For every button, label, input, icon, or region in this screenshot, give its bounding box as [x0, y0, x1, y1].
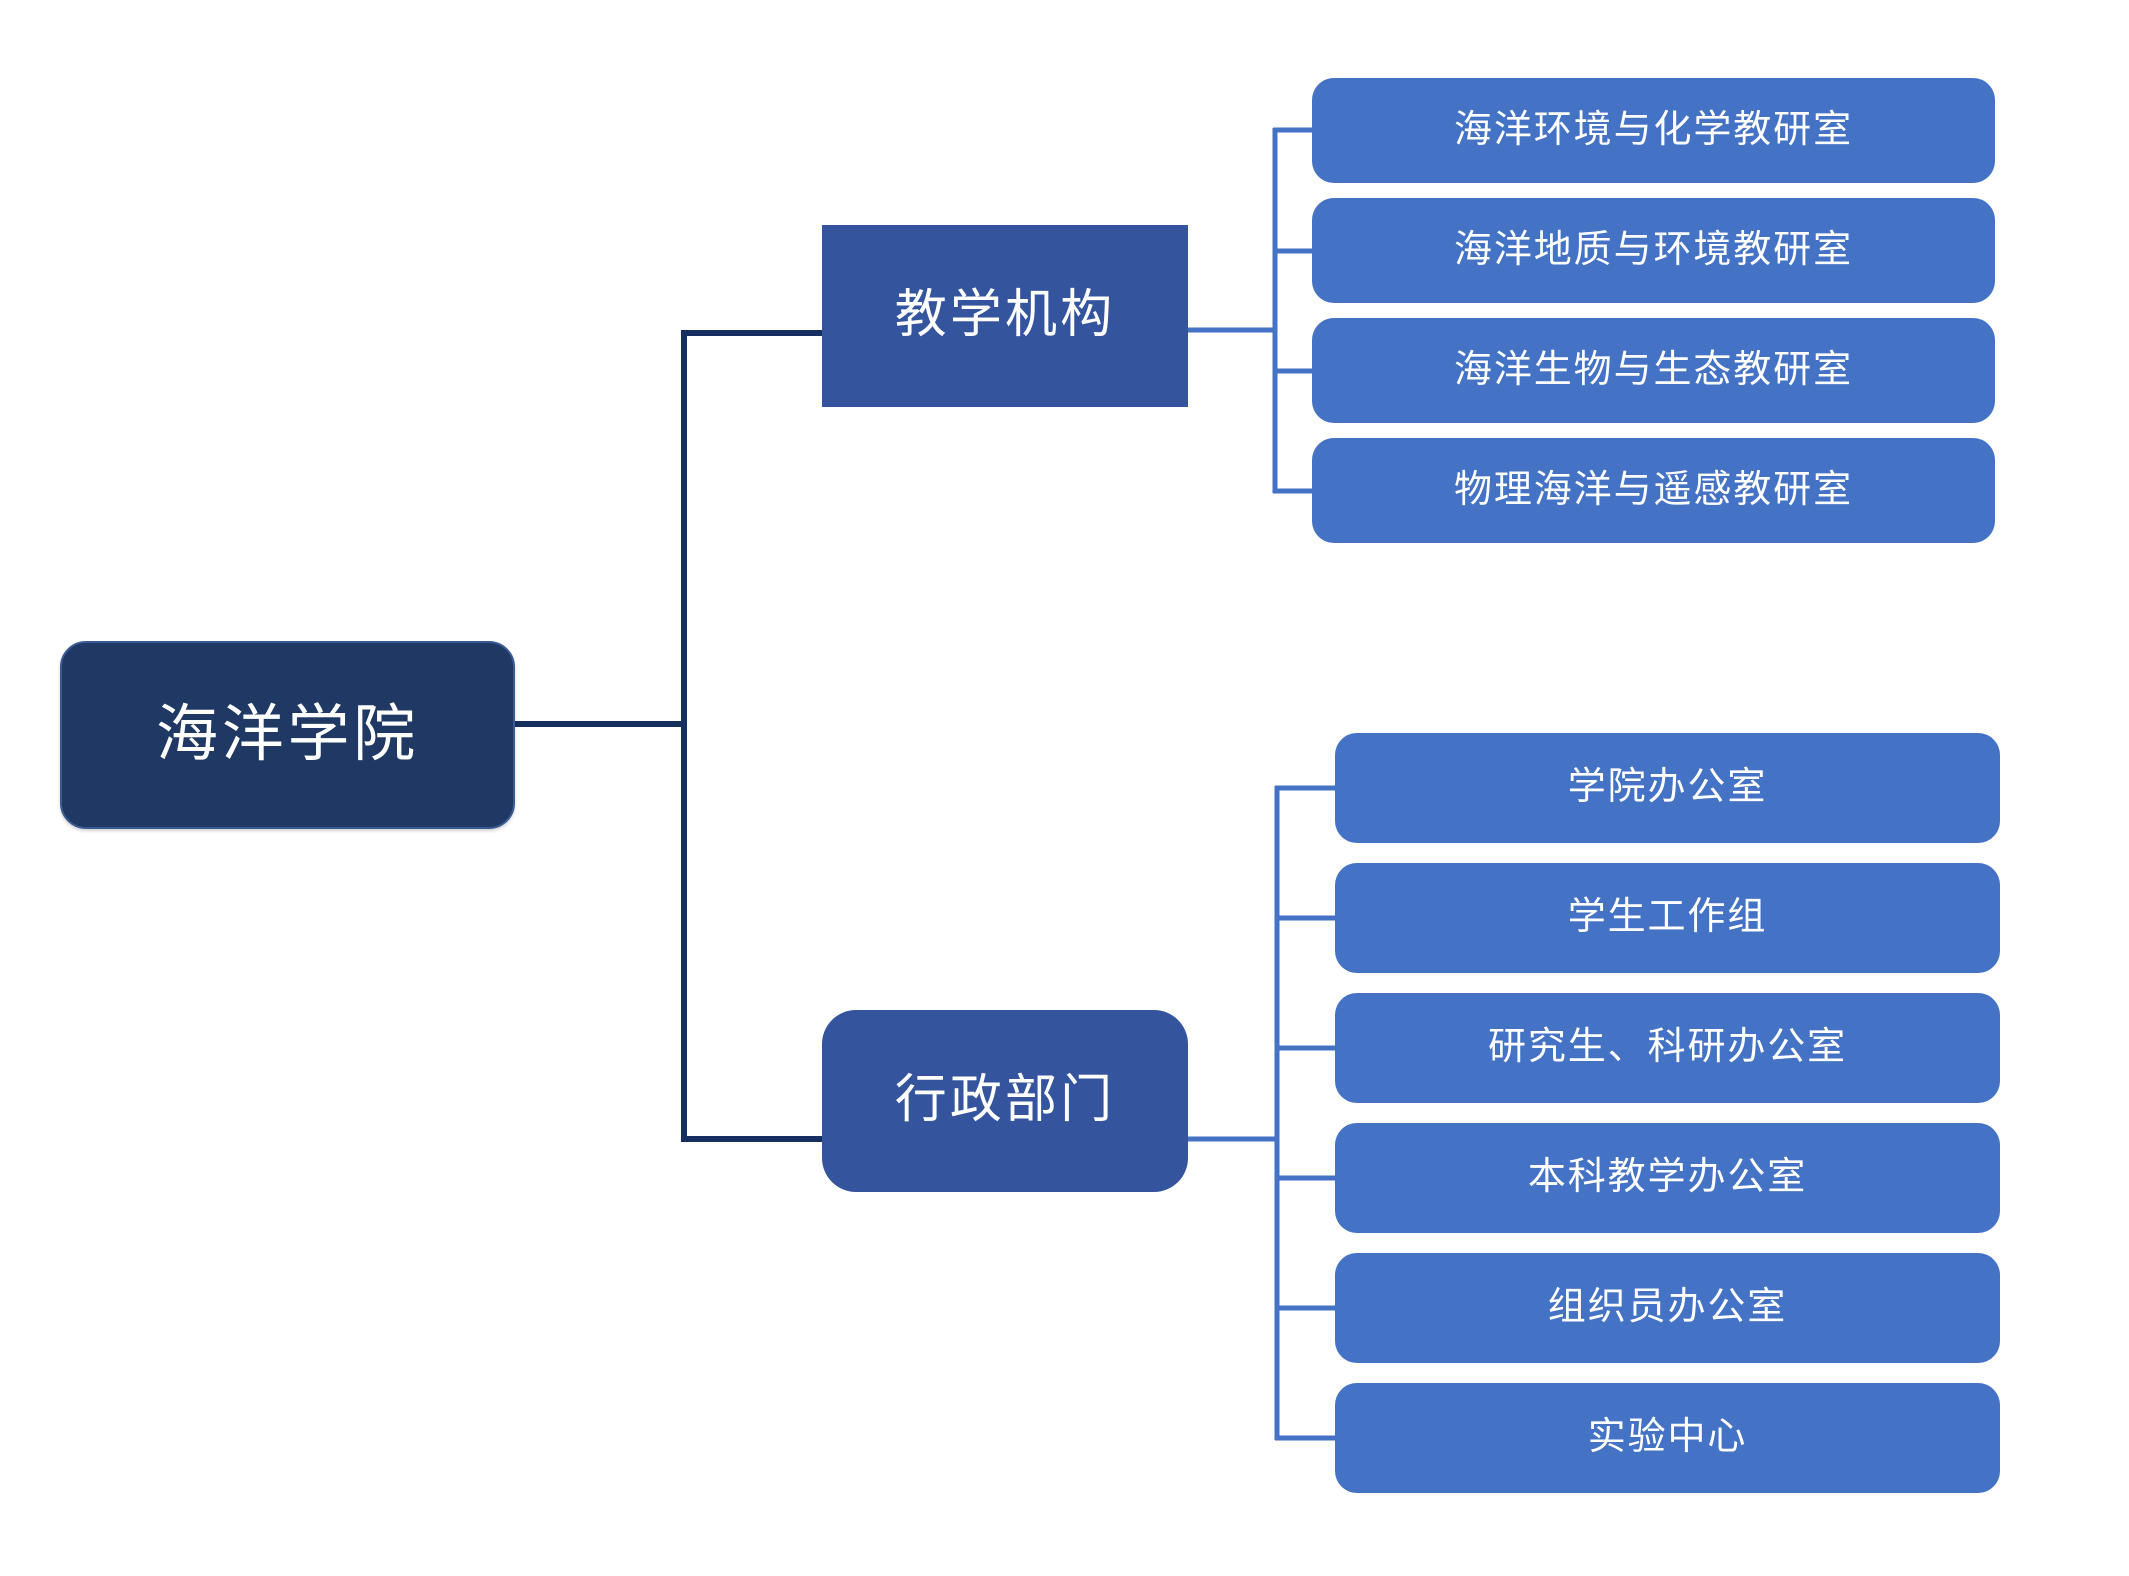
node-leaf-physical-oceanography-remote-sensing[interactable]: 物理海洋与遥感教研室 [1312, 438, 1995, 543]
node-leaf-marine-biology-ecology[interactable]: 海洋生物与生态教研室 [1312, 318, 1995, 423]
node-leaf-marine-environment-chemistry[interactable]: 海洋环境与化学教研室 [1312, 78, 1995, 183]
teaching-connectors [1188, 128, 1314, 493]
org-chart-canvas: 海洋学院 教学机构 行政部门 海洋环境与化学教研室 海洋地质与环境教研室 海洋生… [0, 0, 2129, 1576]
node-leaf-undergraduate-teaching-office[interactable]: 本科教学办公室 [1335, 1123, 2000, 1233]
node-branch-administrative-departments[interactable]: 行政部门 [822, 1010, 1188, 1192]
node-leaf-organizer-office[interactable]: 组织员办公室 [1335, 1253, 2000, 1363]
node-leaf-experiment-center[interactable]: 实验中心 [1335, 1383, 2000, 1493]
node-branch-teaching-institutions[interactable]: 教学机构 [822, 225, 1188, 407]
trunk-connectors [515, 330, 830, 1142]
node-leaf-graduate-research-office[interactable]: 研究生、科研办公室 [1335, 993, 2000, 1103]
node-root-ocean-college[interactable]: 海洋学院 [60, 641, 515, 829]
node-leaf-marine-geology-environment[interactable]: 海洋地质与环境教研室 [1312, 198, 1995, 303]
node-leaf-college-office[interactable]: 学院办公室 [1335, 733, 2000, 843]
admin-connectors [1176, 786, 1337, 1440]
node-leaf-student-affairs-group[interactable]: 学生工作组 [1335, 863, 2000, 973]
